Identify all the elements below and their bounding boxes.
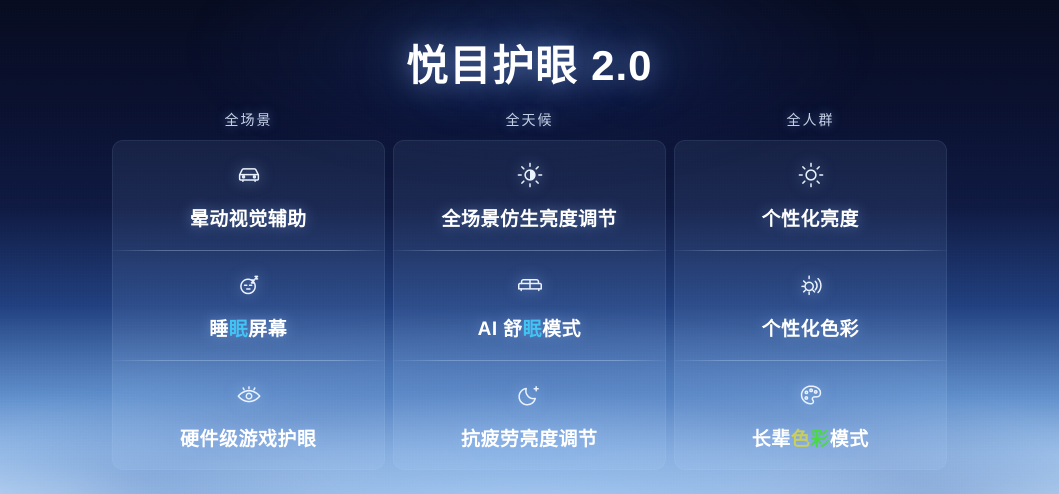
feature-column: 个性化亮度个性化色彩长辈色彩模式 — [674, 140, 947, 470]
feature-label: 个性化色彩 — [762, 314, 860, 341]
feature-label: 全场景仿生亮度调节 — [442, 204, 618, 231]
sofa-icon — [515, 270, 545, 300]
feature-cell[interactable]: 硬件级游戏护眼 — [112, 360, 385, 470]
column-header: 全人群 — [674, 110, 947, 130]
feature-column: 全场景仿生亮度调节AI 舒眠模式抗疲劳亮度调节 — [393, 140, 666, 470]
label-segment: 晕动视觉辅助 — [190, 209, 307, 230]
label-segment: 长辈 — [752, 429, 791, 450]
label-segment: 模式 — [830, 429, 869, 450]
label-segment: 眠 — [523, 319, 543, 340]
column-header: 全天候 — [393, 110, 666, 130]
sleep-face-icon — [234, 270, 264, 300]
feature-cell[interactable]: 个性化亮度 — [674, 140, 947, 250]
label-segment: 模式 — [542, 319, 581, 340]
label-segment: 睡 — [209, 319, 229, 340]
page-title: 悦目护眼 2.0 — [0, 32, 1059, 93]
feature-cell[interactable]: 长辈色彩模式 — [674, 360, 947, 470]
column-header: 全场景 — [112, 110, 385, 130]
feature-cell[interactable]: 晕动视觉辅助 — [112, 140, 385, 250]
eye-icon — [234, 380, 264, 410]
feature-cell[interactable]: 个性化色彩 — [674, 250, 947, 360]
feature-label: 晕动视觉辅助 — [190, 204, 307, 231]
column-headers: 全场景全天候全人群 — [112, 110, 947, 130]
label-segment: 硬件级游戏护眼 — [180, 429, 317, 450]
feature-grid: 晕动视觉辅助睡眠屏幕硬件级游戏护眼全场景仿生亮度调节AI 舒眠模式抗疲劳亮度调节… — [112, 140, 947, 470]
feature-cell[interactable]: 抗疲劳亮度调节 — [393, 360, 666, 470]
feature-cell[interactable]: 全场景仿生亮度调节 — [393, 140, 666, 250]
label-segment: 彩 — [811, 429, 831, 450]
label-segment: 眠 — [229, 319, 249, 340]
label-segment: 抗疲劳亮度调节 — [461, 429, 598, 450]
label-segment: 色 — [791, 429, 811, 450]
feature-cell[interactable]: AI 舒眠模式 — [393, 250, 666, 360]
sun-signal-icon — [796, 270, 826, 300]
label-segment: 个性化亮度 — [762, 209, 860, 230]
sun-half-icon — [515, 160, 545, 190]
palette-icon — [796, 380, 826, 410]
label-segment: 个性化色彩 — [762, 319, 860, 340]
moon-star-icon — [515, 380, 545, 410]
feature-label: 硬件级游戏护眼 — [180, 424, 317, 451]
feature-label: 睡眠屏幕 — [209, 314, 287, 341]
label-segment: AI 舒 — [478, 319, 523, 340]
feature-label: 长辈色彩模式 — [752, 424, 869, 451]
feature-column: 晕动视觉辅助睡眠屏幕硬件级游戏护眼 — [112, 140, 385, 470]
car-icon — [234, 160, 264, 190]
feature-label: AI 舒眠模式 — [478, 314, 582, 341]
sun-icon — [796, 160, 826, 190]
feature-label: 个性化亮度 — [762, 204, 860, 231]
feature-label: 抗疲劳亮度调节 — [461, 424, 598, 451]
feature-cell[interactable]: 睡眠屏幕 — [112, 250, 385, 360]
label-segment: 全场景仿生亮度调节 — [442, 209, 618, 230]
slide-stage: 悦目护眼 2.0 全场景全天候全人群 晕动视觉辅助睡眠屏幕硬件级游戏护眼全场景仿… — [0, 0, 1059, 494]
label-segment: 屏幕 — [249, 319, 288, 340]
